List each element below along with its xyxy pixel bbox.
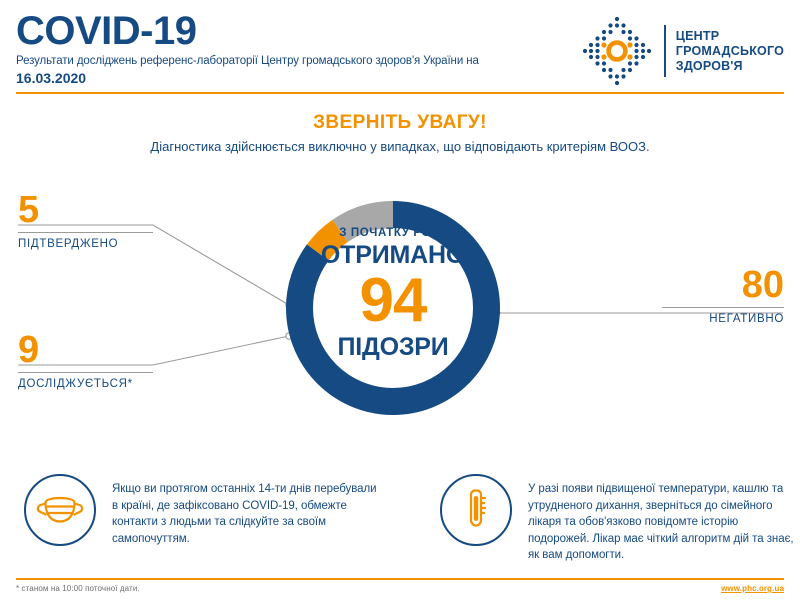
header-brand-block: COVID-19 Результати досліджень референс-… <box>16 10 576 87</box>
attention-title: ЗВЕРНІТЬ УВАГУ! <box>0 112 800 134</box>
header-date: 16.03.2020 <box>16 70 576 87</box>
face-mask-icon <box>22 472 98 548</box>
stat-investigating-label: ДОСЛІДЖУЄТЬСЯ* <box>18 378 258 390</box>
page-title: COVID-19 <box>16 10 576 52</box>
stat-negative-label: НЕГАТИВНО <box>540 313 784 325</box>
donut-center-label: З ПОЧАТКУ РОКУ ОТРИМАНО 94 ПІДОЗРИ <box>298 228 488 360</box>
stat-negative-rule <box>662 307 784 308</box>
logo-line-2: ГРОМАДСЬКОГО <box>676 44 784 59</box>
footer-divider <box>16 578 784 580</box>
attention-banner: ЗВЕРНІТЬ УВАГУ! Діагностика здійснюється… <box>0 112 800 156</box>
donut-total-value: 94 <box>298 269 488 333</box>
stat-negative: 80 НЕГАТИВНО <box>540 265 784 325</box>
donut-label-received: ОТРИМАНО <box>298 243 488 268</box>
donut-kicker-text: З ПОЧАТКУ РОКУ <box>298 228 488 240</box>
advice-travel: Якщо ви протягом останніх 14-ти днів пер… <box>22 472 377 548</box>
phc-dotted-diamond-logo-icon <box>580 14 654 88</box>
stat-investigating-rule <box>18 372 153 373</box>
footer-website-link[interactable]: www.phc.org.ua <box>721 584 784 593</box>
logo-line-1: ЦЕНТР <box>676 29 784 44</box>
infographic-page: COVID-19 Результати досліджень референс-… <box>0 0 800 600</box>
stat-confirmed-label: ПІДТВЕРДЖЕНО <box>18 238 258 250</box>
page-header: COVID-19 Результати досліджень референс-… <box>0 0 800 96</box>
logo-line-3: ЗДОРОВ'Я <box>676 59 784 74</box>
stat-negative-value: 80 <box>540 265 784 305</box>
organisation-logo: ЦЕНТР ГРОМАДСЬКОГО ЗДОРОВ'Я <box>580 14 784 88</box>
logo-wordmark: ЦЕНТР ГРОМАДСЬКОГО ЗДОРОВ'Я <box>676 29 784 74</box>
logo-divider <box>664 25 666 77</box>
stat-confirmed: 5 ПІДТВЕРДЖЕНО <box>18 190 258 250</box>
header-divider <box>16 92 784 94</box>
attention-subtitle: Діагностика здійснюється виключно у випа… <box>0 138 800 156</box>
thermometer-icon <box>438 472 514 548</box>
stat-investigating: 9 ДОСЛІДЖУЄТЬСЯ* <box>18 330 258 390</box>
advice-symptoms: У разі появи підвищеної температури, каш… <box>438 472 798 564</box>
footer-note: * станом на 10:00 поточної дати. <box>16 584 140 593</box>
advice-symptoms-text: У разі появи підвищеної температури, каш… <box>528 472 798 564</box>
statistics-chart-area: З ПОЧАТКУ РОКУ ОТРИМАНО 94 ПІДОЗРИ 5 ПІД… <box>0 170 800 450</box>
stat-confirmed-value: 5 <box>18 190 258 230</box>
header-subtitle: Результати досліджень референс-лаборатор… <box>16 54 576 69</box>
stat-investigating-value: 9 <box>18 330 258 370</box>
advice-travel-text: Якщо ви протягом останніх 14-ти днів пер… <box>112 472 377 547</box>
donut-label-suspicions: ПІДОЗРИ <box>298 335 488 360</box>
stat-confirmed-rule <box>18 232 153 233</box>
